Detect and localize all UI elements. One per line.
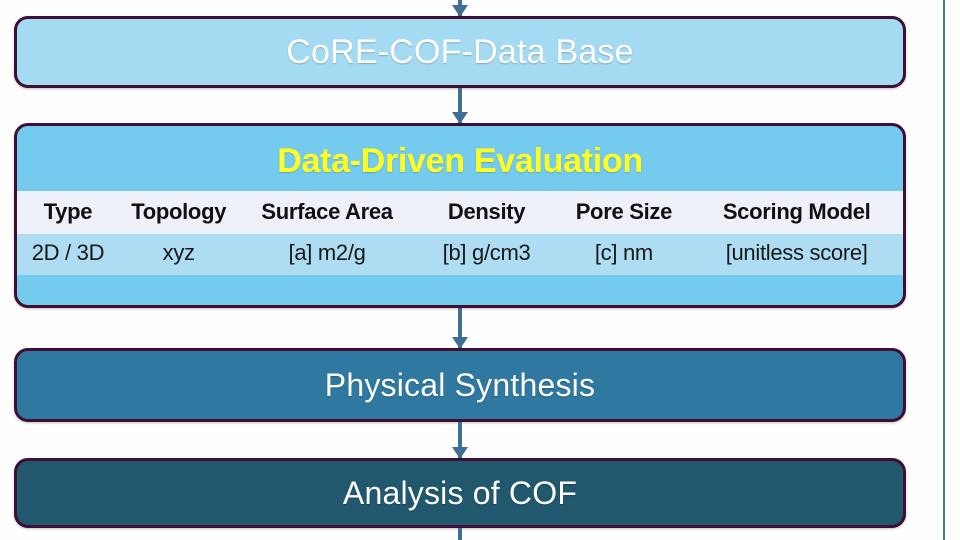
node-synthesis-label: Physical Synthesis	[17, 367, 903, 404]
connector-synthesis-to-analysis	[458, 422, 462, 458]
node-physical-synthesis[interactable]: Physical Synthesis	[14, 348, 906, 422]
node-core-cof-database[interactable]: CoRE-COF-Data Base	[14, 16, 906, 88]
table-header-row: Type Topology Surface Area Density Pore …	[17, 191, 903, 234]
table-row: 2D / 3D xyz [a] m2/g [b] g/cm3 [c] nm [u…	[17, 234, 903, 275]
node-database-label: CoRE-COF-Data Base	[17, 33, 903, 72]
cell-type: 2D / 3D	[17, 234, 119, 275]
cell-surface-area: [a] m2/g	[238, 234, 415, 275]
column-header-topology: Topology	[119, 191, 239, 234]
connector-evaluation-to-synthesis	[458, 308, 462, 348]
node-data-driven-evaluation[interactable]: Data-Driven Evaluation Type Topology Sur…	[14, 123, 906, 308]
cell-scoring-model: [unitless score]	[690, 234, 903, 275]
cell-density: [b] g/cm3	[416, 234, 558, 275]
connector-analysis-outgoing	[458, 528, 462, 540]
cell-topology: xyz	[119, 234, 239, 275]
evaluation-properties-table: Type Topology Surface Area Density Pore …	[17, 191, 903, 275]
column-header-pore-size: Pore Size	[557, 191, 690, 234]
cell-pore-size: [c] nm	[557, 234, 690, 275]
flowchart-canvas: CoRE-COF-Data Base Data-Driven Evaluatio…	[0, 0, 960, 540]
column-header-type: Type	[17, 191, 119, 234]
column-header-density: Density	[416, 191, 558, 234]
node-analysis-of-cof[interactable]: Analysis of COF	[14, 458, 906, 528]
page-divider-rule	[943, 0, 945, 540]
connector-incoming-top	[458, 0, 462, 16]
evaluation-title: Data-Driven Evaluation	[17, 126, 903, 191]
node-analysis-label: Analysis of COF	[17, 475, 903, 512]
connector-database-to-evaluation	[458, 88, 462, 123]
column-header-surface-area: Surface Area	[238, 191, 415, 234]
column-header-scoring-model: Scoring Model	[690, 191, 903, 234]
